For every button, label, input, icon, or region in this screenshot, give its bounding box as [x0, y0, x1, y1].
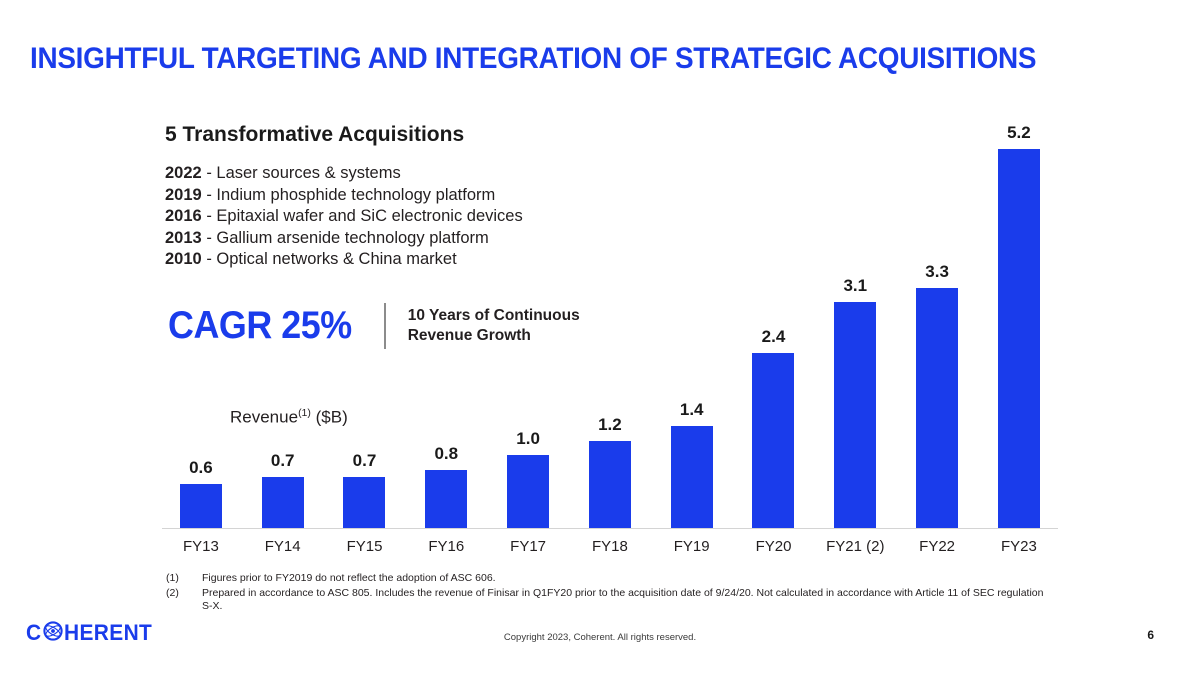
- chart-x-axis-label: FY15: [324, 538, 406, 555]
- chart-bar: [834, 302, 876, 528]
- footnote-marker: (1): [166, 572, 202, 586]
- chart-bar: [998, 149, 1040, 528]
- copyright-notice: Copyright 2023, Coherent. All rights res…: [0, 632, 1200, 643]
- chart-bar: [262, 477, 304, 528]
- chart-bar-group: 3.1: [814, 120, 896, 528]
- footnote-marker: (2): [166, 587, 202, 614]
- chart-bar: [671, 426, 713, 528]
- chart-bar: [425, 470, 467, 528]
- chart-x-axis-label: FY23: [978, 538, 1060, 555]
- chart-bar-value-label: 3.3: [896, 262, 978, 282]
- chart-bar-group: 0.7: [324, 120, 406, 528]
- chart-bar-group: 5.2: [978, 120, 1060, 528]
- chart-bar-group: 0.7: [242, 120, 324, 528]
- chart-x-axis-label: FY22: [896, 538, 978, 555]
- page-number: 6: [1147, 628, 1154, 642]
- chart-bar: [589, 441, 631, 528]
- chart-bar-group: 1.2: [569, 120, 651, 528]
- chart-bar-value-label: 0.7: [242, 451, 324, 471]
- chart-bar: [180, 484, 222, 528]
- chart-bar: [916, 288, 958, 528]
- chart-bar-value-label: 0.7: [324, 451, 406, 471]
- chart-bar-group: 2.4: [733, 120, 815, 528]
- chart-bar-group: 1.0: [487, 120, 569, 528]
- chart-bar-value-label: 0.6: [160, 458, 242, 478]
- chart-x-axis-label: FY20: [733, 538, 815, 555]
- chart-x-axis-label: FY18: [569, 538, 651, 555]
- chart-plot-area: 0.60.70.70.81.01.21.42.43.13.35.2: [160, 120, 1060, 528]
- chart-bar: [343, 477, 385, 528]
- footnote-text: Figures prior to FY2019 do not reflect t…: [202, 572, 1056, 586]
- chart-x-axis-label: FY17: [487, 538, 569, 555]
- chart-baseline: [162, 528, 1058, 529]
- footnote-item: (2) Prepared in accordance to ASC 805. I…: [166, 587, 1056, 614]
- page-title: INSIGHTFUL TARGETING AND INTEGRATION OF …: [30, 42, 1036, 76]
- chart-bar-group: 0.8: [405, 120, 487, 528]
- chart-bar-group: 0.6: [160, 120, 242, 528]
- chart-bar-group: 3.3: [896, 120, 978, 528]
- chart-x-axis-label: FY19: [651, 538, 733, 555]
- footnote-text: Prepared in accordance to ASC 805. Inclu…: [202, 587, 1056, 614]
- chart-bar-value-label: 0.8: [405, 444, 487, 464]
- chart-bar: [507, 455, 549, 528]
- chart-x-axis-label: FY16: [405, 538, 487, 555]
- chart-bar-value-label: 1.0: [487, 429, 569, 449]
- footnotes: (1) Figures prior to FY2019 do not refle…: [166, 572, 1056, 615]
- chart-x-axis-label: FY21 (2): [814, 538, 896, 555]
- chart-bar-group: 1.4: [651, 120, 733, 528]
- chart-bar-value-label: 3.1: [814, 276, 896, 296]
- chart-bar-value-label: 5.2: [978, 123, 1060, 143]
- chart-bar-value-label: 2.4: [733, 327, 815, 347]
- revenue-bar-chart: Revenue(1) ($B) 0.60.70.70.81.01.21.42.4…: [160, 120, 1060, 560]
- chart-x-axis-label: FY14: [242, 538, 324, 555]
- footnote-item: (1) Figures prior to FY2019 do not refle…: [166, 572, 1056, 586]
- chart-x-axis-label: FY13: [160, 538, 242, 555]
- chart-bar-value-label: 1.4: [651, 400, 733, 420]
- chart-bar-value-label: 1.2: [569, 415, 651, 435]
- chart-bar: [752, 353, 794, 528]
- slide: INSIGHTFUL TARGETING AND INTEGRATION OF …: [0, 0, 1200, 675]
